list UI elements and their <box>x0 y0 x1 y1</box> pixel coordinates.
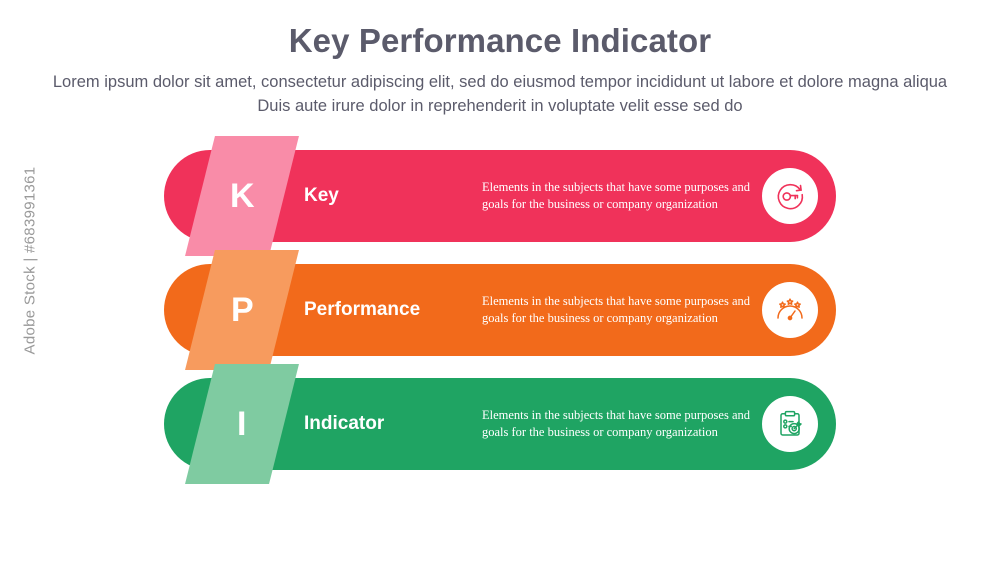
row-label-key: Key <box>304 150 339 242</box>
kpi-row-performance[interactable]: P Performance Elements in the subjects t… <box>164 264 836 356</box>
header: Key Performance Indicator Lorem ipsum do… <box>0 0 1000 118</box>
row-description-key: Elements in the subjects that have some … <box>482 150 750 242</box>
clipboard-target-icon <box>762 396 818 452</box>
badge-letter-key: K <box>230 179 255 213</box>
kpi-rows: K Key Elements in the subjects that have… <box>0 150 1000 492</box>
page-title: Key Performance Indicator <box>0 0 1000 60</box>
row-description-text-key: Elements in the subjects that have some … <box>482 179 750 213</box>
speedometer-stars-icon <box>762 282 818 338</box>
row-description-indicator: Elements in the subjects that have some … <box>482 378 750 470</box>
kpi-row-key[interactable]: K Key Elements in the subjects that have… <box>164 150 836 242</box>
row-label-performance: Performance <box>304 264 420 356</box>
row-description-performance: Elements in the subjects that have some … <box>482 264 750 356</box>
watermark-text: Adobe Stock | #683991361 <box>22 151 39 371</box>
watermark-strip: Adobe Stock | #683991361 <box>0 0 34 563</box>
row-label-indicator: Indicator <box>304 378 384 470</box>
kpi-row-indicator[interactable]: I Indicator Elements in the subjects tha… <box>164 378 836 470</box>
key-clock-icon <box>762 168 818 224</box>
row-description-text-performance: Elements in the subjects that have some … <box>482 293 750 327</box>
row-description-text-indicator: Elements in the subjects that have some … <box>482 407 750 441</box>
badge-letter-performance: P <box>231 293 254 327</box>
page-subtitle: Lorem ipsum dolor sit amet, consectetur … <box>50 60 950 118</box>
badge-letter-indicator: I <box>237 407 246 441</box>
